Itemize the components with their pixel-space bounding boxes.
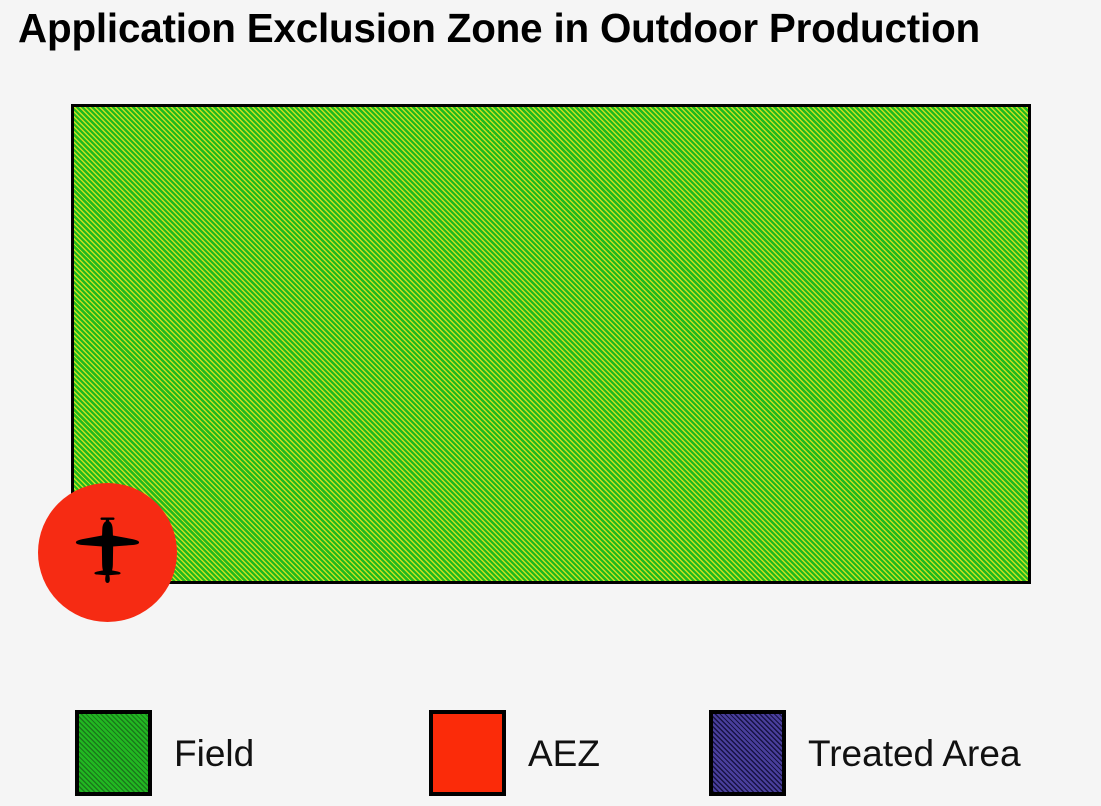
field-area-shape <box>71 104 1031 584</box>
legend: Field AEZ Treated Area <box>0 700 1101 806</box>
diagram-canvas: Application Exclusion Zone in Outdoor Pr… <box>0 0 1101 806</box>
airplane-icon <box>73 514 142 586</box>
legend-item-field[interactable]: Field <box>75 700 254 806</box>
page-title: Application Exclusion Zone in Outdoor Pr… <box>18 0 1077 58</box>
aez-swatch <box>429 710 506 796</box>
legend-label-field: Field <box>174 735 254 772</box>
field-swatch <box>75 710 152 796</box>
treated-swatch <box>709 710 786 796</box>
legend-item-treated-area[interactable]: Treated Area <box>709 700 1021 806</box>
legend-label-treated-area: Treated Area <box>808 735 1021 772</box>
legend-item-aez[interactable]: AEZ <box>429 700 600 806</box>
legend-label-aez: AEZ <box>528 735 600 772</box>
